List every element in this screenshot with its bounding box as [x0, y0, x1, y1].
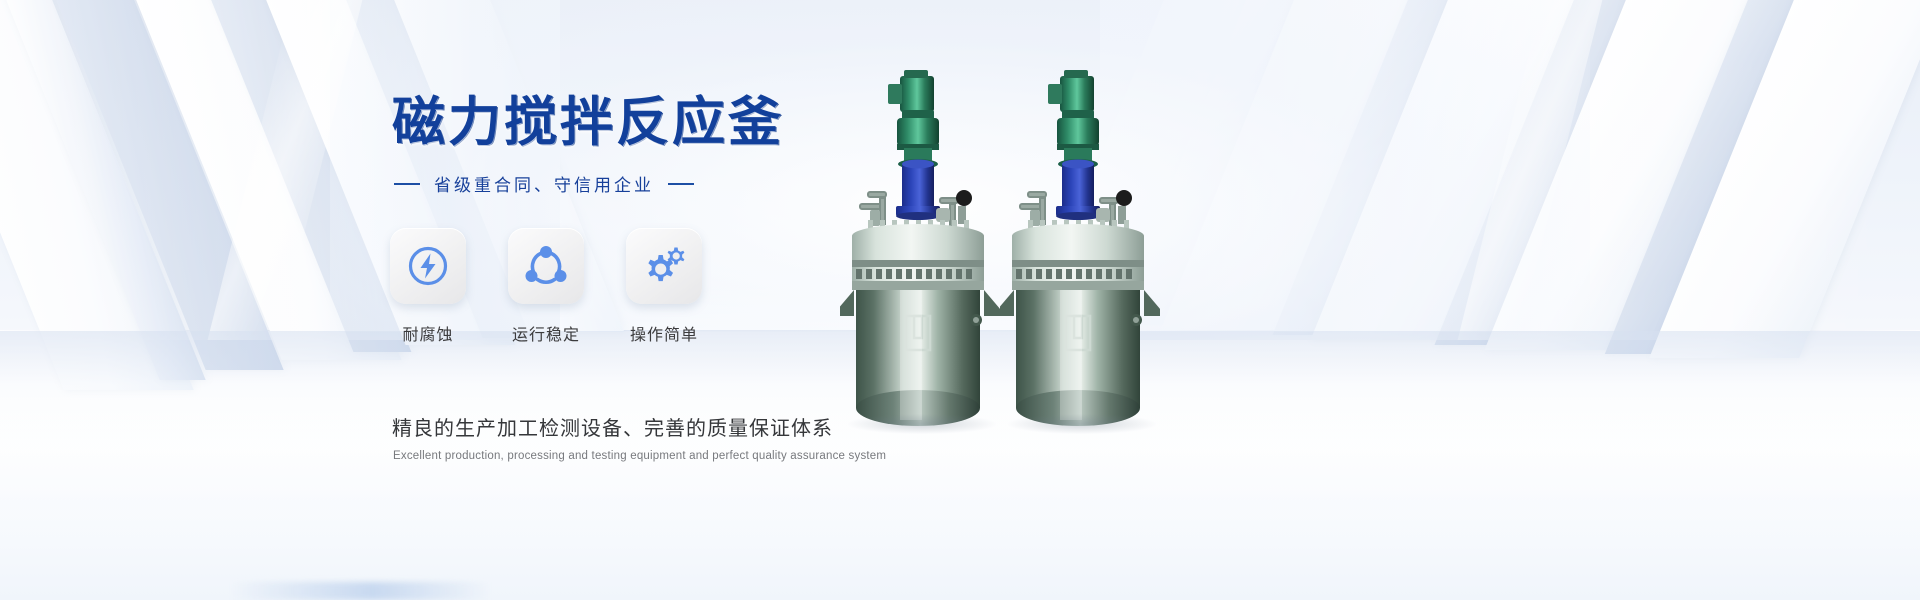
- feature-item-simple-operation[interactable]: 操作简单: [626, 228, 702, 345]
- gears-icon: [640, 243, 688, 289]
- banner-content: 磁力搅拌反应釜 省级重合同、守信用企业 耐腐蚀: [390, 0, 860, 600]
- feature-label: 耐腐蚀: [390, 321, 466, 345]
- lightning-bolt-circle-icon: [406, 244, 450, 288]
- page-title: 磁力搅拌反应釜: [392, 94, 784, 152]
- product-image-reactor-right: [1000, 58, 1160, 428]
- product-shadow: [1008, 414, 1156, 434]
- product-banner: 磁力搅拌反应釜 省级重合同、守信用企业 耐腐蚀: [0, 0, 1920, 600]
- subtitle-row: 省级重合同、守信用企业: [394, 171, 694, 196]
- tagline-english: Excellent production, processing and tes…: [393, 450, 886, 462]
- feature-icon-tile: [626, 228, 702, 304]
- product-image-group: [840, 58, 1180, 438]
- feature-item-corrosion-resistant[interactable]: 耐腐蚀: [390, 228, 466, 345]
- background-bottom-tint: [0, 450, 1920, 600]
- product-image-reactor-left: [840, 58, 1000, 428]
- feature-label: 操作简单: [626, 321, 702, 345]
- feature-item-stable-operation[interactable]: 运行稳定: [508, 228, 584, 345]
- feature-icon-tile: [508, 228, 584, 304]
- share-nodes-icon: [523, 243, 569, 289]
- dash-left-icon: [394, 183, 420, 185]
- tagline-chinese: 精良的生产加工检测设备、完善的质量保证体系: [392, 412, 833, 441]
- product-shadow: [848, 414, 996, 434]
- feature-icon-tile: [390, 228, 466, 304]
- subtitle-text: 省级重合同、守信用企业: [434, 171, 654, 196]
- feature-list: 耐腐蚀 运行稳定: [390, 228, 702, 345]
- dash-right-icon: [668, 183, 694, 185]
- feature-label: 运行稳定: [508, 321, 584, 345]
